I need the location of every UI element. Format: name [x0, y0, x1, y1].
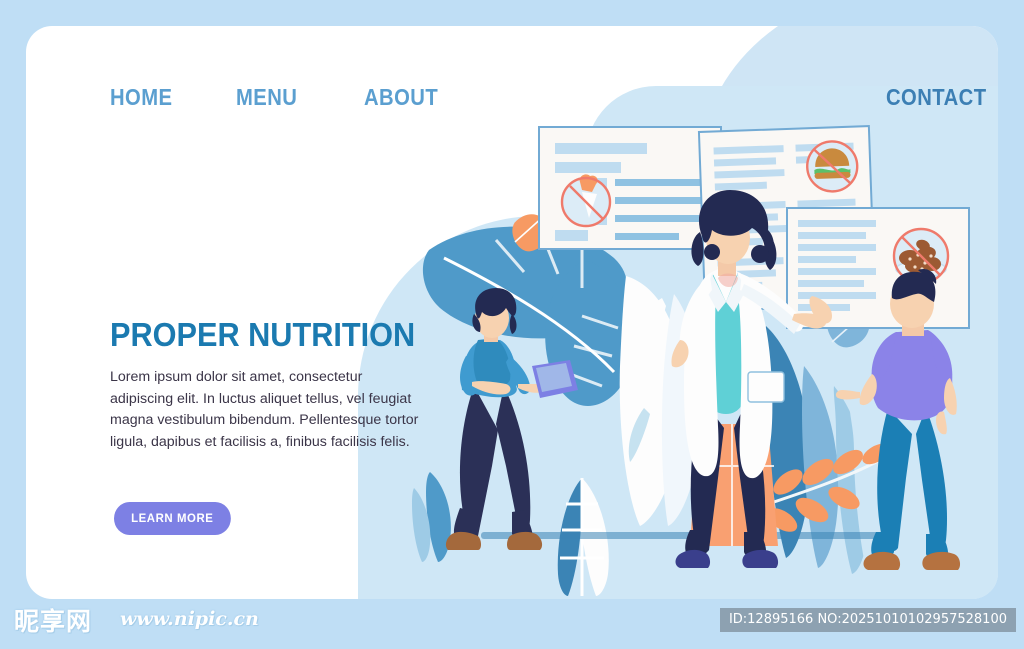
info-card-left — [539, 127, 721, 249]
nav-item-contact[interactable]: CONTACT — [886, 84, 987, 111]
watermark-url: www.nipic.cn — [120, 608, 259, 630]
page-title: PROPER NUTRITION — [110, 318, 417, 351]
hero-card: HOME MENU ABOUT CONTACT PROPER NUTRITION… — [26, 26, 998, 599]
hero-copy: PROPER NUTRITION Lorem ipsum dolor sit a… — [110, 318, 440, 453]
coat-pocket — [748, 372, 784, 402]
nav-item-menu[interactable]: MENU — [236, 84, 297, 111]
hero-description: Lorem ipsum dolor sit amet, consectetur … — [110, 367, 422, 453]
learn-more-button[interactable]: LEARN MORE — [114, 502, 231, 535]
watermark-id-text: ID:12895166 NO:20251010102957528100 — [720, 608, 1016, 632]
no-burger-icon — [806, 141, 858, 193]
decor-leaf-blue-left-low — [412, 472, 451, 562]
nav-item-about[interactable]: ABOUT — [364, 84, 438, 111]
decor-leaves-blue-right — [764, 326, 884, 578]
nav-item-home[interactable]: HOME — [110, 84, 172, 111]
watermark-logo: 昵享网 — [14, 602, 92, 638]
main-navigation[interactable]: HOME MENU ABOUT CONTACT — [84, 84, 994, 144]
page-background: HOME MENU ABOUT CONTACT PROPER NUTRITION… — [0, 0, 1024, 649]
